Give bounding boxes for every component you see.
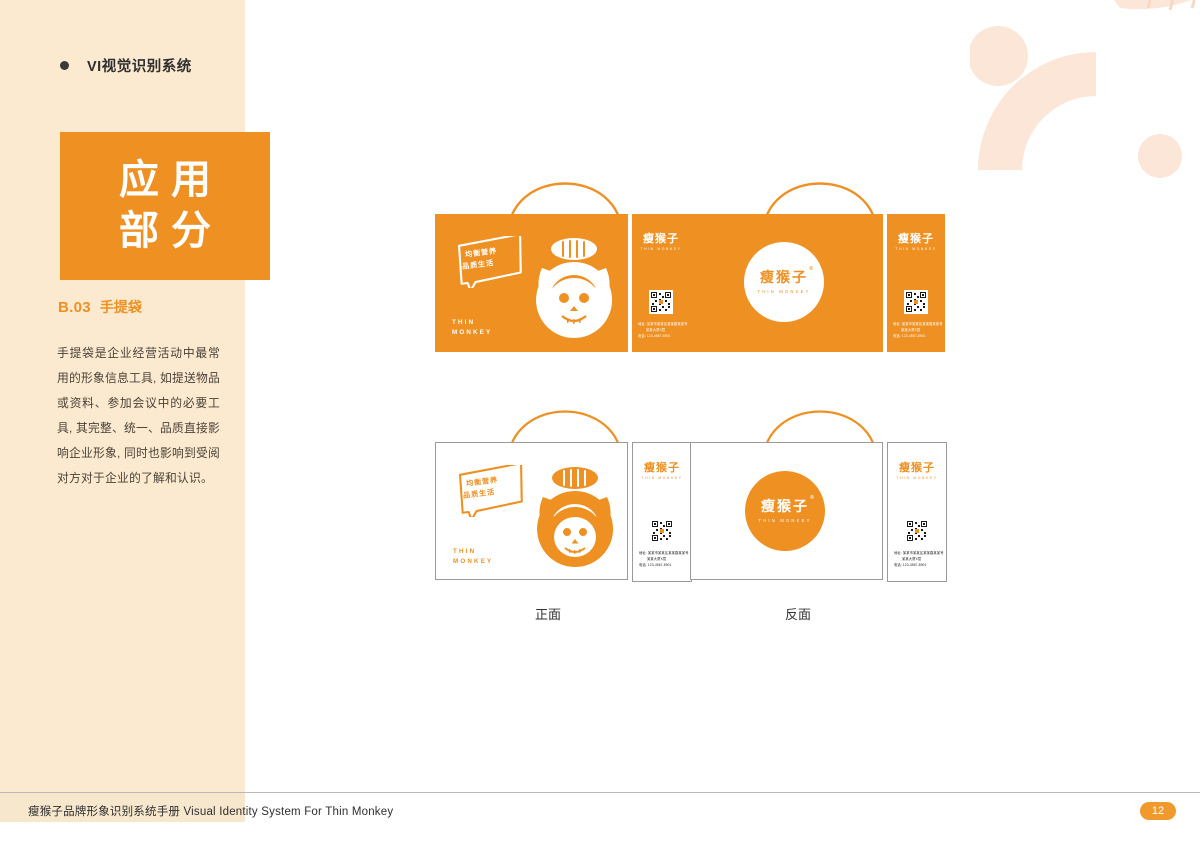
bullet-dot-icon bbox=[60, 61, 69, 70]
side-logo-cn: 瘦猴子 bbox=[633, 463, 691, 474]
bag-side-panel: 瘦猴子 THIN MONKEY bbox=[887, 442, 947, 582]
page-title: VI视觉识别系统 bbox=[87, 55, 192, 76]
side-logo-en: THIN MONKEY bbox=[632, 247, 690, 251]
contact-address-line-1: 某某市某某区某某路某某号 bbox=[902, 322, 943, 326]
side-logo-cn: 瘦猴子 bbox=[632, 234, 690, 245]
monkey-mascot-icon bbox=[525, 463, 617, 571]
contact-phone-label: 电话: bbox=[638, 334, 646, 338]
side-logo-cn: 瘦猴子 bbox=[888, 463, 946, 474]
bag-back-face: 瘦猴子 ® THIN MONKEY bbox=[690, 442, 883, 580]
side-logo: 瘦猴子 THIN MONKEY bbox=[888, 463, 946, 480]
contact-address-label: 地址: bbox=[893, 322, 901, 326]
contact-phone-value: 123-4567-8901 bbox=[648, 563, 672, 567]
section-label: B.03 手提袋 bbox=[58, 297, 142, 317]
qr-code-icon bbox=[650, 519, 674, 543]
contact-address-line-1: 某某市某某区某某路某某号 bbox=[648, 551, 689, 555]
circle-logo: 瘦猴子 ® THIN MONKEY bbox=[745, 471, 825, 551]
wordmark-line-2: MONKEY bbox=[452, 328, 492, 338]
bag-front-face: 均衡营养 品质生活 bbox=[435, 214, 628, 352]
breadcrumb: VI视觉识别系统 bbox=[60, 55, 192, 76]
footer-text: 瘦猴子品牌形象识别系统手册 Visual Identity System For… bbox=[28, 803, 393, 819]
contact-address-line-1: 某某市某某区某某路某某号 bbox=[647, 322, 688, 326]
contact-phone-value: 123-4567-8901 bbox=[903, 563, 927, 567]
contact-phone: 电话: 123-4567-8901 bbox=[894, 563, 927, 569]
wordmark-line-1: THIN bbox=[453, 547, 493, 557]
title-line-2: 部分 bbox=[107, 206, 223, 257]
contact-phone-label: 电话: bbox=[893, 334, 901, 338]
section-name: 手提袋 bbox=[100, 297, 142, 317]
qr-code-icon bbox=[904, 290, 928, 314]
section-code: B.03 bbox=[58, 299, 91, 316]
side-logo: 瘦猴子 THIN MONKEY bbox=[887, 234, 945, 251]
circle-logo-en: THIN MONKEY bbox=[758, 518, 811, 523]
side-logo-en: THIN MONKEY bbox=[633, 476, 691, 480]
circle-logo: 瘦猴子 ® THIN MONKEY bbox=[744, 242, 824, 322]
qr-code-icon bbox=[905, 519, 929, 543]
contact-phone: 电话: 123-4567-8901 bbox=[893, 334, 926, 340]
contact-address-label: 地址: bbox=[639, 551, 647, 555]
wordmark: THIN MONKEY bbox=[452, 318, 492, 338]
side-logo: 瘦猴子 THIN MONKEY bbox=[632, 234, 690, 251]
artwork-stage: 均衡营养 品质生活 bbox=[420, 140, 980, 610]
contact-phone-value: 123-4567-8901 bbox=[902, 334, 926, 338]
footer-divider bbox=[0, 792, 1200, 793]
wordmark-line-2: MONKEY bbox=[453, 557, 493, 567]
contact-phone: 电话: 123-4567-8901 bbox=[639, 563, 672, 569]
contact-address: 地址: 某某市某某区某某路某某号 bbox=[639, 551, 689, 557]
bag-side-panel: 瘦猴子 THIN MONKEY bbox=[887, 214, 945, 352]
contact-phone-label: 电话: bbox=[639, 563, 647, 567]
registered-mark: ® bbox=[809, 267, 815, 272]
section-title-block: 应用 部分 bbox=[60, 132, 270, 280]
contact-phone: 电话: 123-4567-8901 bbox=[638, 334, 671, 340]
monkey-watermark-icon bbox=[970, 0, 1200, 190]
page-number-badge: 12 bbox=[1140, 802, 1176, 820]
contact-address: 地址: 某某市某某区某某路某某号 bbox=[893, 322, 943, 328]
contact-phone-label: 电话: bbox=[894, 563, 902, 567]
wordmark: THIN MONKEY bbox=[453, 547, 493, 567]
contact-address-cont: 某某大厦X层 bbox=[902, 557, 921, 563]
monkey-mascot-icon bbox=[524, 234, 616, 342]
qr-code-icon bbox=[649, 290, 673, 314]
circle-logo-cn: 瘦猴子 ® bbox=[761, 499, 809, 513]
side-logo: 瘦猴子 THIN MONKEY bbox=[633, 463, 691, 480]
contact-address-cont: 某某大厦X层 bbox=[647, 557, 666, 563]
contact-phone-value: 123-4567-8901 bbox=[647, 334, 671, 338]
contact-address-cont: 某某大厦X层 bbox=[901, 328, 920, 334]
contact-address-label: 地址: bbox=[638, 322, 646, 326]
side-logo-en: THIN MONKEY bbox=[887, 247, 945, 251]
body-paragraph: 手提袋是企业经营活动中最常用的形象信息工具, 如提送物品或资料、参加会议中的必要… bbox=[57, 341, 220, 491]
circle-logo-cn: 瘦猴子 ® bbox=[760, 270, 808, 284]
circle-logo-en: THIN MONKEY bbox=[757, 289, 810, 294]
contact-address-line-1: 某某市某某区某某路某某号 bbox=[903, 551, 944, 555]
circle-logo-brand: 瘦猴子 bbox=[760, 269, 808, 285]
contact-address: 地址: 某某市某某区某某路某某号 bbox=[894, 551, 944, 557]
registered-mark: ® bbox=[810, 496, 816, 501]
caption-back: 反面 bbox=[785, 604, 811, 623]
contact-address: 地址: 某某市某某区某某路某某号 bbox=[638, 322, 688, 328]
side-logo-en: THIN MONKEY bbox=[888, 476, 946, 480]
circle-logo-brand: 瘦猴子 bbox=[761, 498, 809, 514]
title-line-1: 应用 bbox=[107, 155, 223, 206]
bag-front-face: 均衡营养 品质生活 bbox=[435, 442, 628, 580]
contact-address-label: 地址: bbox=[894, 551, 902, 555]
bag-back-face: 瘦猴子 ® THIN MONKEY bbox=[690, 214, 883, 352]
contact-address-cont: 某某大厦X层 bbox=[646, 328, 665, 334]
wordmark-line-1: THIN bbox=[452, 318, 492, 328]
side-logo-cn: 瘦猴子 bbox=[887, 234, 945, 245]
bag-side-panel: 瘦猴子 THIN MONKEY bbox=[632, 442, 692, 582]
bag-side-panel: 瘦猴子 THIN MONKEY bbox=[632, 214, 690, 352]
caption-front: 正面 bbox=[535, 604, 561, 623]
